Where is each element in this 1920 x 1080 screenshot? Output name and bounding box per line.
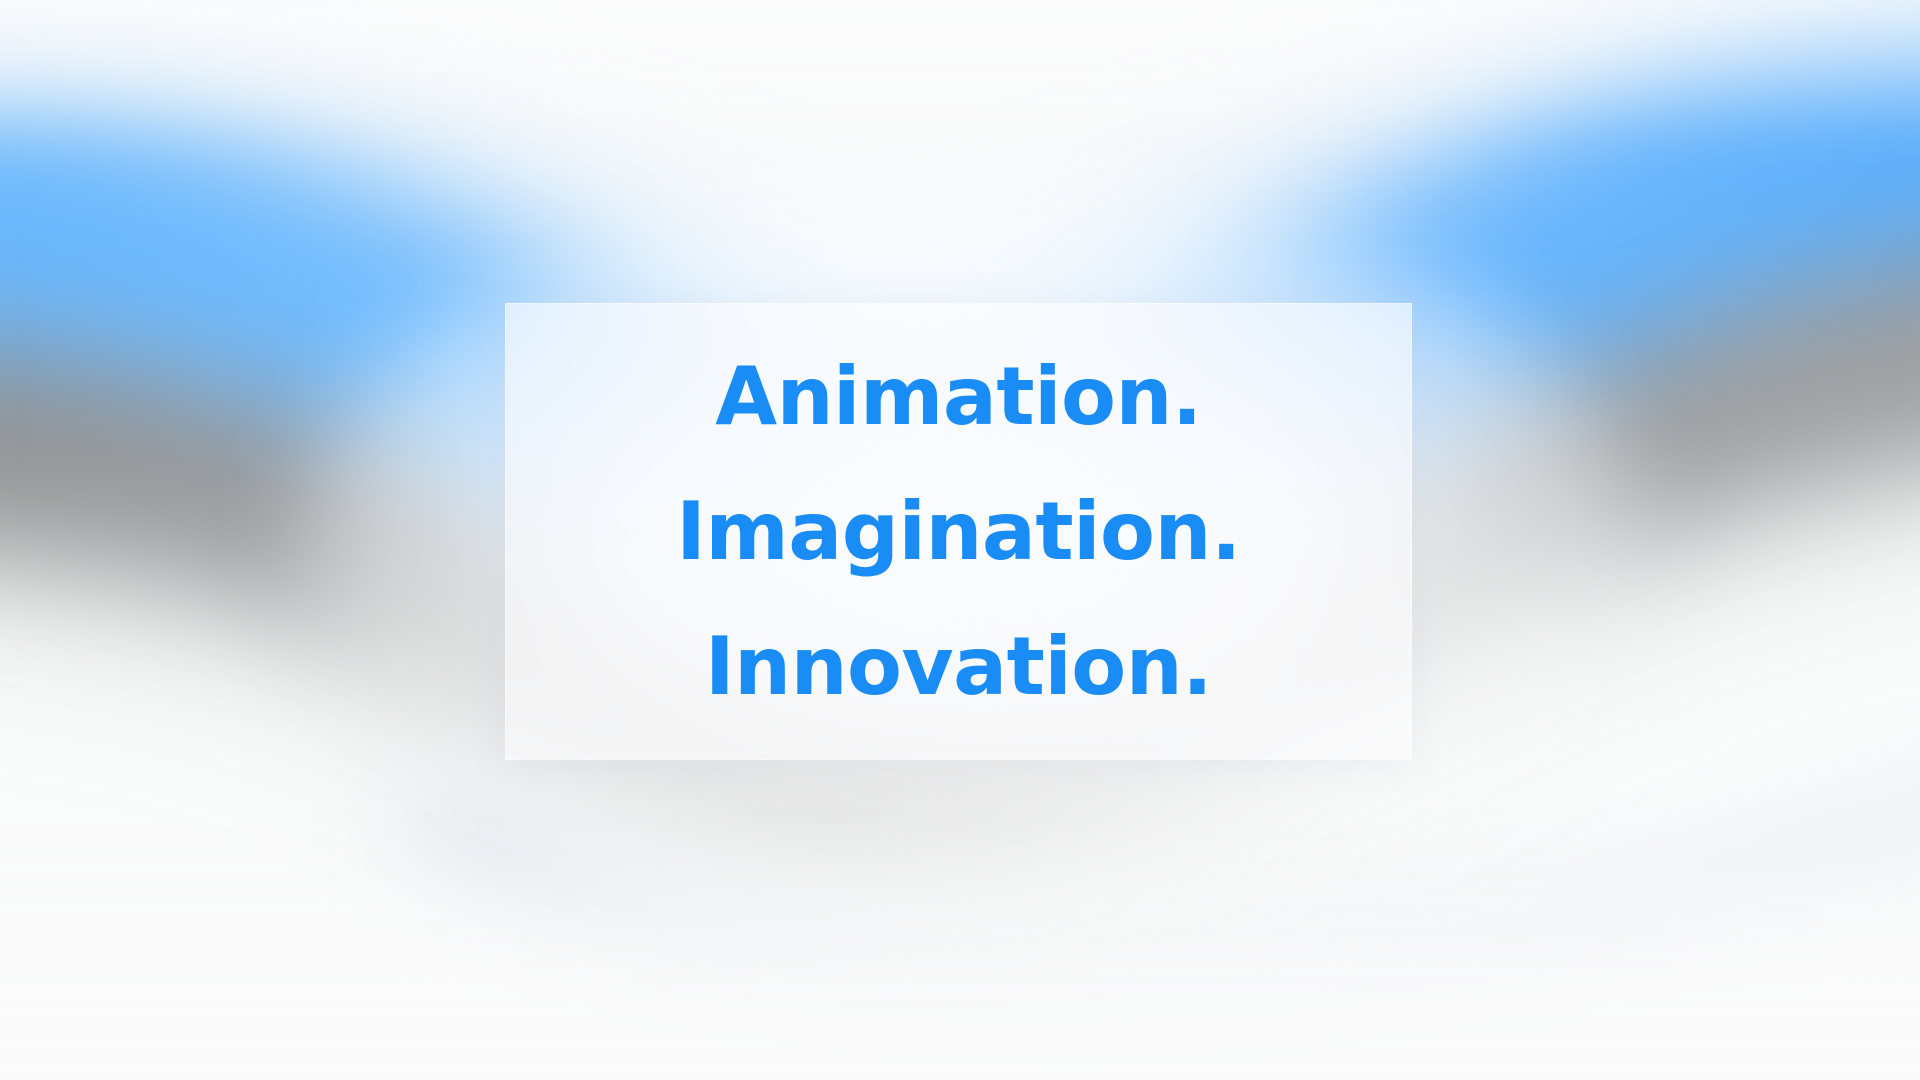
hero-line-innovation: Innovation. <box>676 599 1241 734</box>
hero-heading: Animation. Imagination. Innovation. <box>652 329 1265 734</box>
hero-line-animation: Animation. <box>676 329 1241 464</box>
hero-stage: Animation. Imagination. Innovation. <box>0 0 1920 1080</box>
hero-card: Animation. Imagination. Innovation. <box>505 303 1412 760</box>
hero-line-imagination: Imagination. <box>676 464 1241 599</box>
